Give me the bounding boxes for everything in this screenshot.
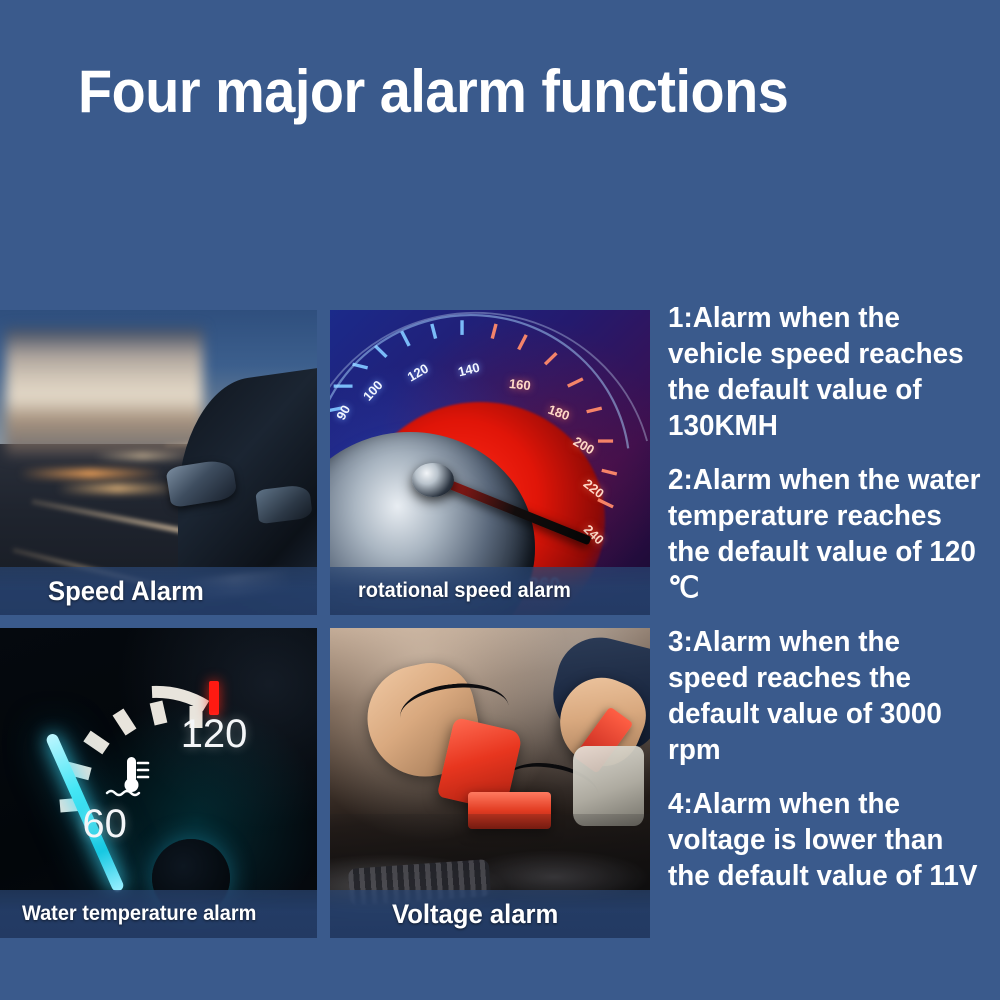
caption-speed-alarm: Speed Alarm bbox=[48, 576, 204, 607]
panel-water-temperature-alarm[interactable]: 60 120 Water temperature alarm bbox=[0, 628, 317, 938]
page-title: Four major alarm functions bbox=[78, 60, 915, 123]
alarm-item-1: 1:Alarm when the vehicle speed reaches t… bbox=[668, 300, 987, 444]
coolant-label-120: 120 bbox=[181, 712, 248, 757]
coolant-temperature-icon bbox=[101, 755, 165, 799]
alarm-item-3: 3:Alarm when the speed reaches the defau… bbox=[668, 624, 987, 768]
panel-voltage-alarm[interactable]: Voltage alarm bbox=[330, 628, 650, 938]
panel-speed-alarm[interactable]: Speed Alarm bbox=[0, 310, 317, 615]
speedo-tick-160: 160 bbox=[508, 376, 531, 393]
panel-rotational-speed-alarm[interactable]: 90 100 120 140 160 180 200 220 240 260 r… bbox=[330, 310, 650, 615]
caption-bar-speed-alarm: Speed Alarm bbox=[0, 567, 317, 615]
coolant-label-60: 60 bbox=[82, 802, 127, 847]
coolant-warning-mark bbox=[209, 681, 219, 715]
alarm-item-2: 2:Alarm when the water temperature reach… bbox=[668, 462, 987, 606]
alarm-item-4: 4:Alarm when the voltage is lower than t… bbox=[668, 786, 987, 894]
alarm-description-list: 1:Alarm when the vehicle speed reaches t… bbox=[668, 300, 1000, 912]
speedometer-hub bbox=[412, 463, 454, 497]
caption-bar-rotational-speed-alarm: rotational speed alarm bbox=[330, 567, 650, 615]
caption-water-temperature-alarm: Water temperature alarm bbox=[22, 902, 256, 926]
caption-bar-water-temperature-alarm: Water temperature alarm bbox=[0, 890, 317, 938]
alarm-panel-grid: Speed Alarm bbox=[0, 310, 650, 938]
caption-rotational-speed-alarm: rotational speed alarm bbox=[358, 579, 571, 603]
caption-voltage-alarm: Voltage alarm bbox=[392, 899, 558, 930]
caption-bar-voltage-alarm: Voltage alarm bbox=[330, 890, 650, 938]
